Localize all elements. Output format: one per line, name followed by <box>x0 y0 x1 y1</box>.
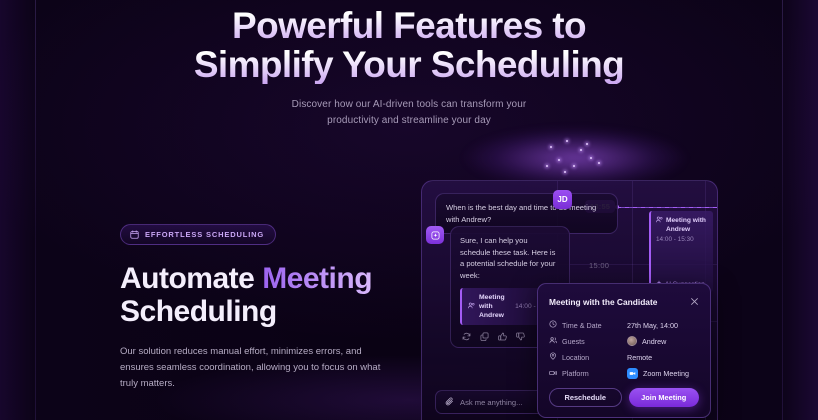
page-subtitle-line1: Discover how our AI-driven tools can tra… <box>0 97 818 113</box>
popup-row-guests: Guests Andrew <box>549 336 699 346</box>
people-icon <box>468 301 475 313</box>
popup-row-value: Andrew <box>627 336 666 346</box>
page-root: Powerful Features to Simplify Your Sched… <box>0 0 818 420</box>
popup-row-label: Platform <box>549 369 627 379</box>
popup-row-platform: Platform Zoom Meeting <box>549 368 699 379</box>
feature-heading-accent: Meeting <box>262 262 372 295</box>
avatar <box>627 336 637 346</box>
sparkle-particles <box>540 138 610 178</box>
chat-input-placeholder: Ask me anything... <box>460 398 522 407</box>
popup-row-value: Zoom Meeting <box>627 368 689 379</box>
chip-label: EFFORTLESS SCHEDULING <box>145 230 264 239</box>
popup-value-text: 27th May, 14:00 <box>627 321 678 330</box>
popup-row-value: Remote <box>627 353 652 362</box>
meeting-details-popup: Meeting with the Candidate Time & Date 2… <box>537 283 711 418</box>
popup-row-time-date: Time & Date 27th May, 14:00 <box>549 320 699 330</box>
popup-label-text: Platform <box>562 369 589 378</box>
popup-row-label: Time & Date <box>549 320 627 330</box>
join-meeting-button[interactable]: Join Meeting <box>629 388 700 407</box>
location-icon <box>549 352 557 362</box>
popup-label-text: Guests <box>562 337 585 346</box>
thumbs-up-icon[interactable] <box>498 332 507 341</box>
page-title-line2: Simplify Your Scheduling <box>0 45 818 84</box>
popup-label-text: Time & Date <box>562 321 602 330</box>
popup-value-text: Andrew <box>642 337 666 346</box>
ai-assistant-avatar <box>426 226 444 244</box>
popup-title: Meeting with the Candidate <box>549 297 657 307</box>
user-avatar-initials[interactable]: JD <box>553 190 572 209</box>
effortless-scheduling-chip[interactable]: EFFORTLESS SCHEDULING <box>120 224 276 245</box>
popup-value-text: Remote <box>627 353 652 362</box>
platform-icon <box>549 369 557 379</box>
thumbs-down-icon[interactable] <box>516 332 525 341</box>
close-icon[interactable] <box>690 293 699 311</box>
feature-body-text: Our solution reduces manual effort, mini… <box>120 344 382 392</box>
popup-label-text: Location <box>562 353 589 362</box>
popup-value-text: Zoom Meeting <box>643 369 689 378</box>
popup-row-label: Guests <box>549 336 627 346</box>
clock-icon <box>549 320 557 330</box>
zoom-icon <box>627 368 638 379</box>
calendar-icon <box>130 230 139 239</box>
popup-row-label: Location <box>549 352 627 362</box>
page-title-line1: Powerful Features to <box>0 6 818 45</box>
popup-row-location: Location Remote <box>549 352 699 362</box>
chat-event-title: Meeting with Andrew <box>479 293 511 320</box>
paperclip-icon[interactable] <box>445 393 454 411</box>
copy-icon[interactable] <box>480 332 489 341</box>
reschedule-button[interactable]: Reschedule <box>549 388 622 407</box>
regenerate-icon[interactable] <box>462 332 471 341</box>
popup-actions: Reschedule Join Meeting <box>549 388 699 407</box>
sparkle-icon <box>431 231 440 240</box>
chat-ai-message: Sure, I can help you schedule these task… <box>460 235 560 281</box>
feature-heading: Automate Meeting Scheduling <box>120 262 410 328</box>
popup-header: Meeting with the Candidate <box>549 293 699 311</box>
feature-column: EFFORTLESS SCHEDULING Automate Meeting S… <box>120 224 410 392</box>
feature-heading-line2: Scheduling <box>120 295 277 328</box>
guests-icon <box>549 336 557 346</box>
page-subtitle-line2: productivity and streamline your day <box>0 113 818 129</box>
page-header: Powerful Features to Simplify Your Sched… <box>0 6 818 129</box>
feature-heading-plain: Automate <box>120 262 262 295</box>
popup-row-value: 27th May, 14:00 <box>627 321 678 330</box>
